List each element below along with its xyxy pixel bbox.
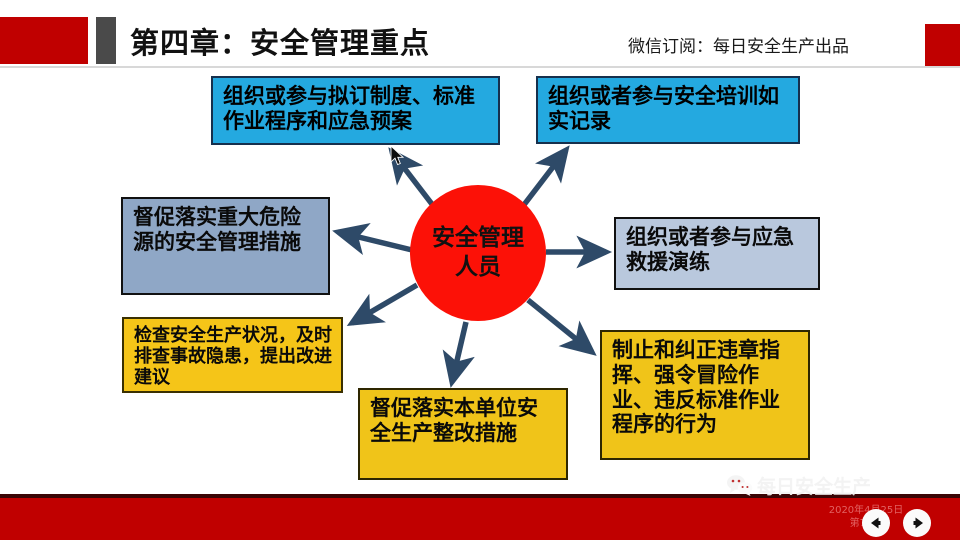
arrow-right-icon xyxy=(903,509,931,537)
slide-canvas: 第四章：安全管理重点 微信订阅：每日安全生产出品 组织或参与拟订制度、标准作 xyxy=(0,0,960,540)
wechat-logo-icon xyxy=(726,474,754,496)
node-box-policy[interactable]: 组织或参与拟订制度、标准作业程序和应急预案 xyxy=(211,76,500,145)
hub-safety-management-personnel[interactable]: 安全管理 人员 xyxy=(410,185,546,321)
watermark-text: 每日安全生产 xyxy=(757,472,871,499)
node-box-drill[interactable]: 组织或者参与应急救援演练 xyxy=(614,217,820,290)
node-box-violation[interactable]: 制止和纠正违章指挥、强令冒险作业、违反标准作业程序的行为 xyxy=(600,330,810,460)
hub-label-line1: 安全管理 xyxy=(432,224,524,253)
mouse-cursor-icon xyxy=(390,145,406,167)
nav-forward-button[interactable] xyxy=(903,509,931,537)
hub-label-line2: 人员 xyxy=(455,253,501,282)
node-box-inspect[interactable]: 检查安全生产状况，及时排查事故隐患，提出改进建议 xyxy=(122,317,343,393)
node-box-hazard[interactable]: 督促落实重大危险源的安全管理措施 xyxy=(121,197,330,295)
arrow-left-icon xyxy=(862,509,890,537)
nav-back-button[interactable] xyxy=(862,509,890,537)
node-box-rectify[interactable]: 督促落实本单位安全生产整改措施 xyxy=(358,388,568,480)
node-box-training[interactable]: 组织或者参与安全培训如实记录 xyxy=(536,76,800,144)
